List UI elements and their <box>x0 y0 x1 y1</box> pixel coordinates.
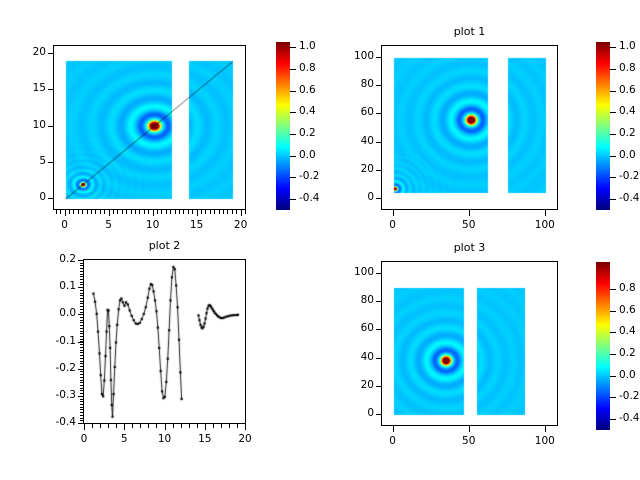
plot-3-ytick <box>376 329 381 330</box>
plot-3-cbar-label: -0.2 <box>619 390 640 402</box>
plot-3-cbar-tick <box>610 354 616 355</box>
plot-3-cbar-label: 0.4 <box>619 325 636 337</box>
plot-3-cbar-label: 0.8 <box>619 282 636 294</box>
plot-3-ytick-label: 0 <box>331 407 374 419</box>
plot-3-xtick-label: 50 <box>449 435 489 447</box>
plot-3-cbar-label: 0.0 <box>619 369 636 381</box>
plot-3-colorbar-gradient <box>596 262 610 430</box>
plot-3-ytick-label: 20 <box>331 379 374 391</box>
plot-3-ytick-label: 40 <box>331 351 374 363</box>
plot-3-title: plot 3 <box>381 241 558 254</box>
plot-3-cbar-label: -0.4 <box>619 412 640 424</box>
plot-3-ytick-label: 80 <box>331 294 374 306</box>
plot-3-xtick <box>469 426 470 432</box>
plot-3-colorbar <box>596 262 610 430</box>
panel-plot-3: plot 30204060801000501000.80.60.40.20.0-… <box>0 0 640 480</box>
plot-3-ytick <box>376 386 381 387</box>
plot-3-ytick <box>376 414 381 415</box>
plot-3-cbar-tick <box>610 376 616 377</box>
plot-3-ytick <box>376 358 381 359</box>
plot-3-ytick <box>376 301 381 302</box>
plot-3-cbar-tick <box>610 332 616 333</box>
plot-3-cbar-tick <box>610 419 616 420</box>
plot-3-xtick <box>393 426 394 432</box>
plot-3-cbar-tick <box>610 397 616 398</box>
plot-3-cbar-tick <box>610 289 616 290</box>
plot-3-plot-area <box>383 263 558 426</box>
plot-3-cbar-tick <box>610 311 616 312</box>
figure-canvas: 05101520051015201.00.80.60.40.20.0-0.2-0… <box>0 0 640 480</box>
plot-3-cbar-label: 0.6 <box>619 304 636 316</box>
plot-3-xtick <box>545 426 546 432</box>
plot-3-ytick-label: 100 <box>331 266 374 278</box>
plot-3-xtick-label: 100 <box>525 435 565 447</box>
plot-3-cbar-label: 0.2 <box>619 347 636 359</box>
plot-3-xtick-label: 0 <box>373 435 413 447</box>
plot-3-ytick <box>376 273 381 274</box>
plot-3-axes <box>381 261 558 426</box>
plot-3-ytick-label: 60 <box>331 322 374 334</box>
